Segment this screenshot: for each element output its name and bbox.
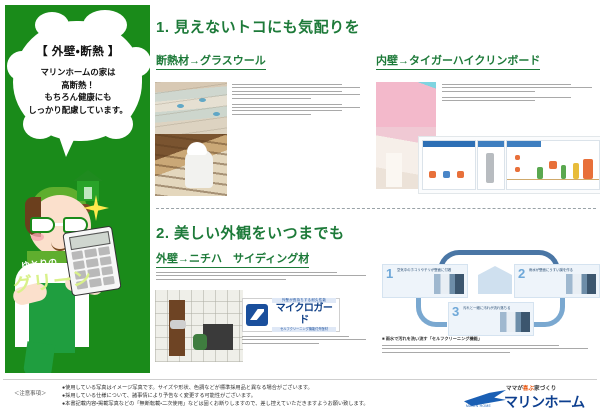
bubble-title: 【 外壁・断熱 】 <box>23 43 133 59</box>
footer-note-item: ●採用している仕様について、諸事情により予告なく変更する可能性がございます。 <box>62 392 422 400</box>
worker-installing-insulation-photo <box>155 134 227 196</box>
step-number: 2 <box>518 267 525 280</box>
footer-notes: ●使用している写真はイメージ写真です。サイズや形状、色調などが標準採用品と異なる… <box>62 384 422 409</box>
badge-main-label: マイクロガード <box>272 303 336 327</box>
nichiha-logo-mark <box>246 304 268 326</box>
microguard-badge: 外壁が長持ちする耐久性能 マイクロガード セルフクリーニング機能付外壁材 <box>242 298 340 332</box>
section1-right-body <box>442 84 592 104</box>
footer-note-item: ●使用している写真はイメージ写真です。サイズや形状、色調などが標準採用品と異なる… <box>62 384 422 392</box>
step-illustration <box>434 274 464 294</box>
chairs <box>203 324 233 350</box>
section2-left-body <box>156 272 366 282</box>
footer-divider <box>3 379 597 380</box>
glasses-lens-left <box>30 217 55 233</box>
cycle-arrow-right <box>534 296 565 327</box>
cycle-arrow-left <box>416 296 447 327</box>
note-body <box>382 345 588 353</box>
pink-hyclean-board-photo <box>376 82 436 127</box>
bubble-line-1: マリンホームの家は <box>23 66 133 79</box>
step-illustration <box>500 312 530 332</box>
diagram-panel-b <box>477 140 505 190</box>
bubble-line-2: 高断熱！ <box>23 79 133 92</box>
bubble-line-3: もちろん健康にも <box>23 91 133 104</box>
step-number: 3 <box>452 305 459 318</box>
badge-bottom-band: セルフクリーニング機能付外壁材 <box>272 327 336 332</box>
cycle-step-2: 2 雨水が壁面にうすい膜を作る <box>514 264 600 298</box>
footer-label: ＜注意事項＞ <box>14 389 46 397</box>
helmet-icon <box>187 142 207 155</box>
bubble-tail <box>57 131 78 157</box>
formaldehyde-absorption-diagram <box>418 136 600 194</box>
mailbox-icon <box>170 320 186 329</box>
cycle-step-1: 1 空気中のホコリやチリが壁面に付着 <box>382 264 468 298</box>
brochure-page: 【 外壁・断熱 】 マリンホームの家は 高断熱！ もちろん健康にも しっかり配慮… <box>0 0 600 414</box>
footer-note-item: ●本書記載内容・掲載写真などの「無断転載・二次使用」などは固くお断りしますので、… <box>62 400 422 408</box>
section2-left-subheading: 外壁→ニチハ サイディング材 <box>156 250 309 268</box>
logo-tagline: ママが喜ぶ家づくり <box>506 384 556 392</box>
section1-left-body <box>232 84 360 117</box>
self-cleaning-note: ■ 雨水で汚れを洗い流す「セルフクリーニング機能」 <box>382 336 598 355</box>
self-cleaning-cycle-diagram: 1 空気中のホコリやチリが壁面に付着 2 雨水が壁面にうすい膜を作る 3 汚れと… <box>382 250 598 336</box>
step-caption: 汚れと一緒に汚れが流れ落ちる <box>463 306 531 311</box>
section1-right-subheading: 内壁→タイガーハイクリンボード <box>376 52 540 70</box>
step-caption: 雨水が壁面にうすい膜を作る <box>529 268 597 273</box>
insulation-boards-photo <box>155 82 227 134</box>
diagram-panel-a <box>422 140 476 190</box>
badge-note-body <box>242 336 366 346</box>
section2-heading: 2. 美しい外観をいつまでも <box>156 222 345 243</box>
mascot-leg <box>23 341 55 373</box>
note-heading: ■ 雨水で汚れを洗い流す「セルフクリーニング機能」 <box>382 336 598 342</box>
section1-left-subheading: 断熱材→グラスウール <box>156 52 266 70</box>
step-number: 1 <box>386 267 393 280</box>
step-caption: 空気中のホコリやチリが壁面に付着 <box>397 268 465 273</box>
speech-bubble: 【 外壁・断熱 】 マリンホームの家は 高断熱！ もちろん健康にも しっかり配慮… <box>13 21 142 141</box>
section1-heading: 1. 見えないトコにも気配りを <box>156 16 360 37</box>
bubble-text: 【 外壁・断熱 】 マリンホームの家は 高断熱！ もちろん健康にも しっかり配慮… <box>23 43 133 116</box>
marin-home-logo: MARIN HOME ママが喜ぶ家づくり マリンホーム <box>464 384 592 410</box>
cycle-step-3: 3 汚れと一緒に汚れが流れ落ちる <box>448 302 534 336</box>
diagram-panel-c <box>506 140 600 190</box>
content-area: 1. 見えないトコにも気配りを 断熱材→グラスウール 内壁→タイガーハイクリンボ… <box>152 0 600 414</box>
exterior-siding-wall-photo <box>155 290 243 362</box>
step-illustration <box>566 274 596 294</box>
logo-subtext: MARIN HOME <box>466 404 491 408</box>
mascot-cheek-left <box>31 233 44 241</box>
left-green-panel: 【 外壁・断熱 】 マリンホームの家は 高断熱！ もちろん健康にも しっかり配慮… <box>5 5 150 373</box>
section-divider <box>156 208 596 209</box>
bubble-line-4: しっかり配慮しています。 <box>23 104 133 117</box>
worker-figure <box>185 150 213 188</box>
plant-icon <box>193 334 207 350</box>
logo-name: マリンホーム <box>504 392 585 412</box>
